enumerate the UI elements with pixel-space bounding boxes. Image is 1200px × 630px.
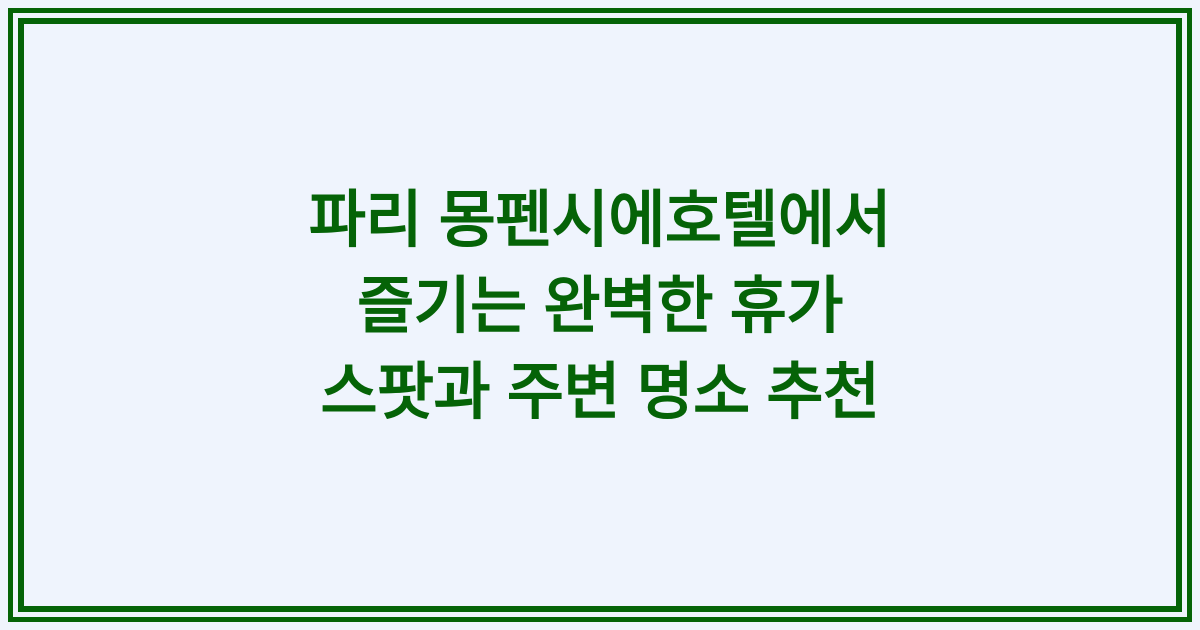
title-container: 파리 몽펜시에호텔에서 즐기는 완벽한 휴가 스팟과 주변 명소 추천 — [0, 0, 1200, 630]
page-title: 파리 몽펜시에호텔에서 즐기는 완벽한 휴가 스팟과 주변 명소 추천 — [309, 178, 891, 436]
title-card: 파리 몽펜시에호텔에서 즐기는 완벽한 휴가 스팟과 주변 명소 추천 — [0, 0, 1200, 630]
